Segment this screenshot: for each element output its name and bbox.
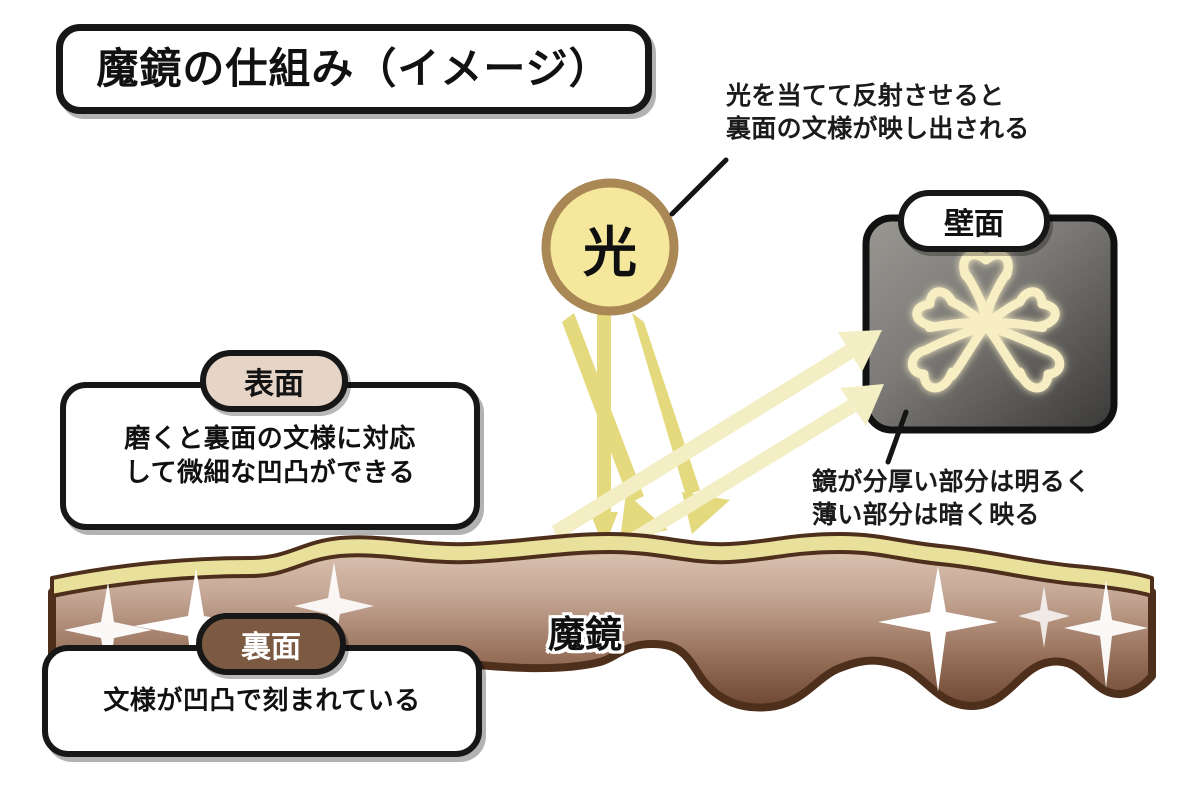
leader-line-reflect	[672, 160, 726, 214]
badge-wall: 壁面	[898, 190, 1050, 252]
panel-front-surface-text: 磨くと裏面の文様に対応 して微細な凹凸ができる	[124, 422, 416, 490]
badge-back-surface: 裏面	[196, 613, 346, 675]
light-source-circle	[546, 183, 674, 311]
caption-reflection: 光を当てて反射させると 裏面の文様が映し出される	[726, 80, 1030, 146]
caption-thickness: 鏡が分厚い部分は明るく 薄い部分は暗く映る	[812, 466, 1090, 532]
badge-front-surface: 表面	[200, 350, 348, 412]
mirror-label: 魔鏡	[548, 604, 622, 658]
panel-back-surface-text: 文様が凹凸で刻まれている	[103, 684, 420, 718]
diagram-canvas: 魔鏡の仕組み（イメージ） 光 光を当てて反射させると 裏面の文様が映し出される …	[0, 0, 1200, 800]
page-title: 魔鏡の仕組み（イメージ）	[96, 42, 611, 97]
title-box: 魔鏡の仕組み（イメージ）	[56, 24, 652, 114]
